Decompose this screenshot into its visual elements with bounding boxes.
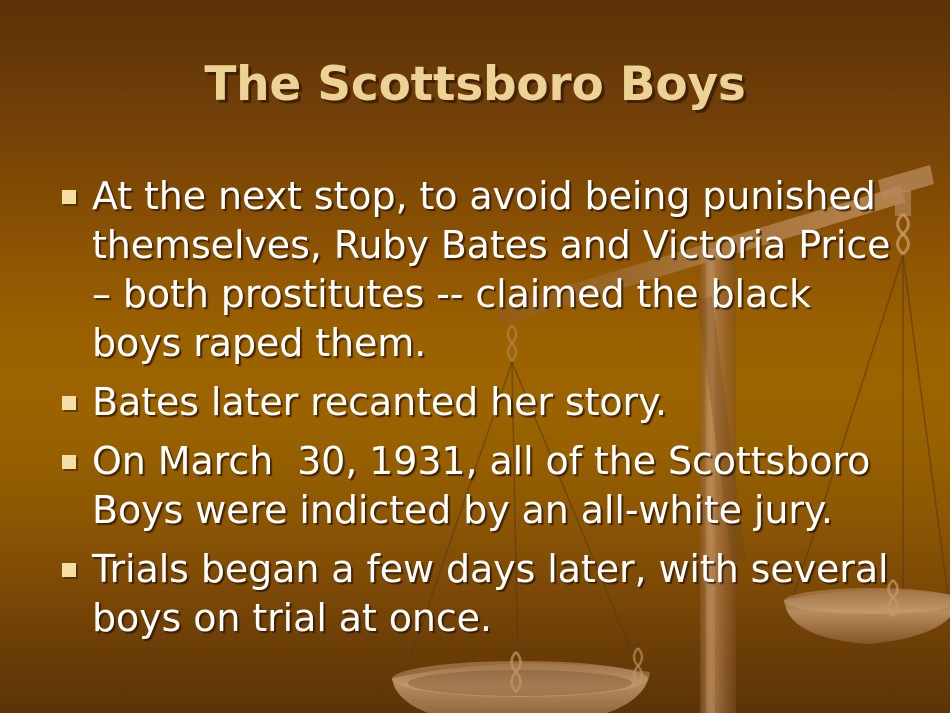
bullet-square-icon [62,190,76,204]
slide-title: The Scottsboro Boys [0,57,950,112]
bullet-square-icon [62,563,76,577]
bullet-text: On March 30, 1931, all of the Scottsboro… [92,437,904,535]
bullet-list: At the next stop, to avoid being punishe… [56,172,904,643]
list-item[interactable]: Trials began a few days later, with seve… [56,545,904,643]
presentation-slide: The Scottsboro Boys At the next stop, to… [0,0,950,713]
bullet-text: At the next stop, to avoid being punishe… [92,172,904,368]
list-item[interactable]: On March 30, 1931, all of the Scottsboro… [56,437,904,535]
bullet-square-icon [62,455,76,469]
bullet-text: Trials began a few days later, with seve… [92,545,904,643]
list-item[interactable]: Bates later recanted her story. [56,378,904,427]
scales-left-pan [392,648,650,713]
list-item[interactable]: At the next stop, to avoid being punishe… [56,172,904,368]
bullet-text: Bates later recanted her story. [92,378,904,427]
bullet-square-icon [62,396,76,410]
